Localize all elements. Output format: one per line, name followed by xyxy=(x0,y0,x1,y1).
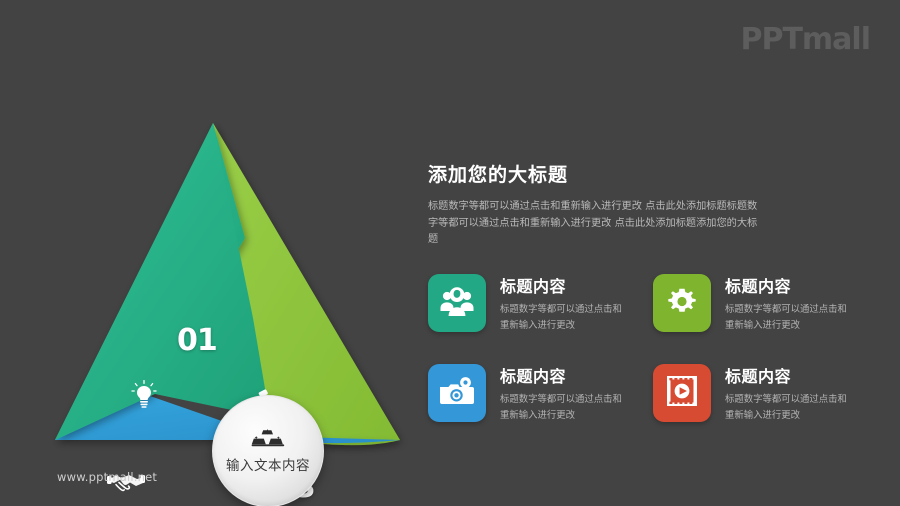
pptmall-logo: PPTmall xyxy=(740,22,870,57)
card-description: 标题数字等都可以通过点击和重新输入进行更改 xyxy=(500,302,625,333)
gold-bars-icon xyxy=(251,429,285,451)
feature-card[interactable]: 标题内容 标题数字等都可以通过点击和重新输入进行更改 xyxy=(428,272,653,362)
feature-card[interactable]: 标题内容 标题数字等都可以通过点击和重新输入进行更改 xyxy=(653,272,878,362)
lightbulb-icon xyxy=(131,380,157,410)
feature-card[interactable]: 标题内容 标题数字等都可以通过点击和重新输入进行更改 xyxy=(653,362,878,452)
card-icon-box[interactable] xyxy=(653,274,711,332)
people-group-icon xyxy=(440,286,474,321)
card-title: 标题内容 xyxy=(500,363,625,387)
segment-number-01: 01 xyxy=(177,323,217,358)
triangle-svg xyxy=(55,118,405,448)
card-title: 标题内容 xyxy=(500,273,625,297)
card-icon-box[interactable] xyxy=(428,364,486,422)
feature-card[interactable]: 标题内容 标题数字等都可以通过点击和重新输入进行更改 xyxy=(428,362,653,452)
slide-canvas: PPTmall xyxy=(0,0,900,506)
card-text: 标题内容 标题数字等都可以通过点击和重新输入进行更改 xyxy=(725,362,850,423)
camera-icon xyxy=(439,376,475,411)
main-content: 添加您的大标题 标题数字等都可以通过点击和重新输入进行更改 点击此处添加标题标题… xyxy=(428,160,868,249)
center-circle[interactable]: 输入文本内容 xyxy=(212,395,324,506)
card-text: 标题内容 标题数字等都可以通过点击和重新输入进行更改 xyxy=(725,272,850,333)
card-description: 标题数字等都可以通过点击和重新输入进行更改 xyxy=(725,302,850,333)
center-label: 输入文本内容 xyxy=(226,454,310,474)
footer-url[interactable]: www.pptmall.net xyxy=(57,470,157,484)
card-title: 标题内容 xyxy=(725,273,850,297)
card-description: 标题数字等都可以通过点击和重新输入进行更改 xyxy=(500,392,625,423)
page-description: 标题数字等都可以通过点击和重新输入进行更改 点击此处添加标题标题数字等都可以通过… xyxy=(428,199,766,249)
card-title: 标题内容 xyxy=(725,363,850,387)
card-text: 标题内容 标题数字等都可以通过点击和重新输入进行更改 xyxy=(500,362,625,423)
card-text: 标题内容 标题数字等都可以通过点击和重新输入进行更改 xyxy=(500,272,625,333)
card-icon-box[interactable] xyxy=(653,364,711,422)
card-description: 标题数字等都可以通过点击和重新输入进行更改 xyxy=(725,392,850,423)
gear-icon xyxy=(666,285,698,322)
card-icon-box[interactable] xyxy=(428,274,486,332)
feature-cards: 标题内容 标题数字等都可以通过点击和重新输入进行更改 标题内容 标题数字等都可以… xyxy=(428,272,873,452)
film-play-icon xyxy=(666,375,698,412)
triangle-diagram: 01 02 03 xyxy=(55,118,405,448)
page-title: 添加您的大标题 xyxy=(428,160,868,187)
